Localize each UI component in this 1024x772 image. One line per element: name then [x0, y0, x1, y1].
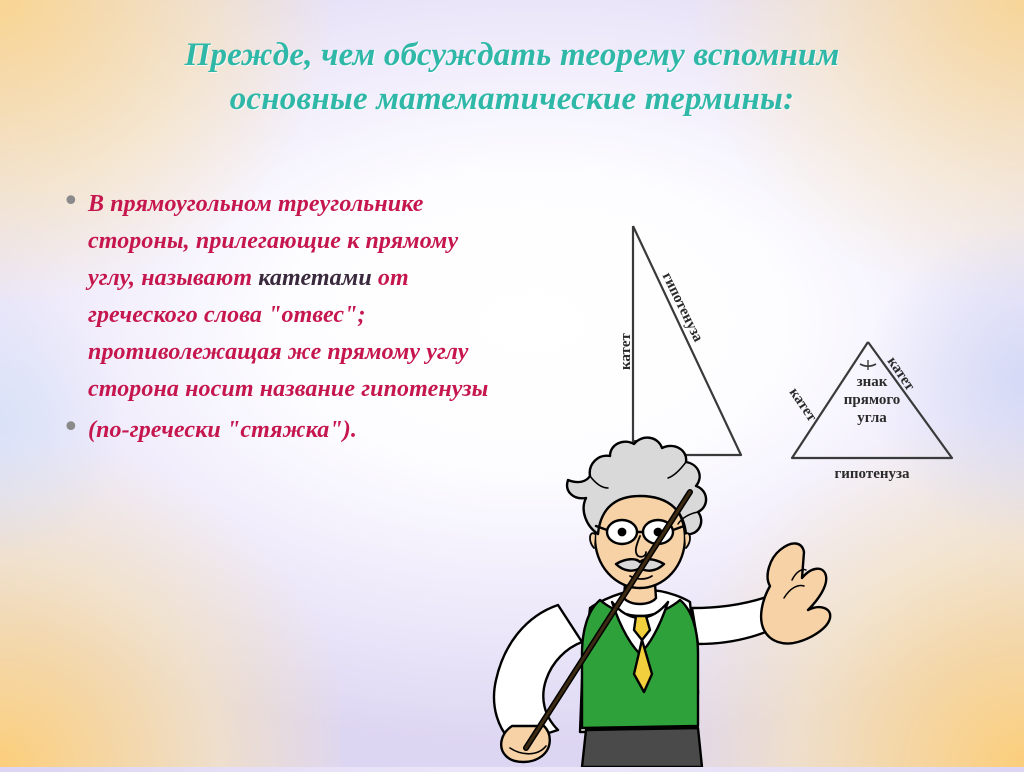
label-right-angle-sign-line1: знак [832, 374, 912, 391]
list-item-text: (по-гречески "стяжка"). [88, 412, 357, 449]
title-line-2: основные математические термины: [60, 78, 964, 122]
corner-glow-bottom-left [0, 447, 340, 767]
label-right-angle-sign-line2: прямого [822, 392, 922, 409]
page-title: Прежде, чем обсуждать теорему вспомним о… [60, 34, 964, 121]
label-right-angle-sign-line3: угла [832, 410, 912, 427]
slide: Прежде, чем обсуждать теорему вспомним о… [0, 0, 1024, 767]
bullet-2-segment-1: (по-гречески "стяжка"). [88, 417, 357, 443]
list-item-text: В прямоугольном треугольнике стороны, пр… [88, 186, 492, 408]
list-item: • В прямоугольном треугольнике стороны, … [62, 186, 492, 408]
list-item: • (по-гречески "стяжка"). [62, 412, 492, 449]
bullet-marker: • [62, 186, 88, 218]
label-leg-vertical: катет [618, 333, 635, 370]
einstein-cartoon-svg [440, 430, 860, 767]
bullet-list: • В прямоугольном треугольнике стороны, … [62, 186, 492, 453]
bullet-marker: • [62, 412, 88, 444]
einstein-cartoon [440, 430, 860, 767]
bullet-1-segment-2: катетами [258, 265, 372, 291]
title-line-1: Прежде, чем обсуждать теорему вспомним [185, 37, 840, 73]
